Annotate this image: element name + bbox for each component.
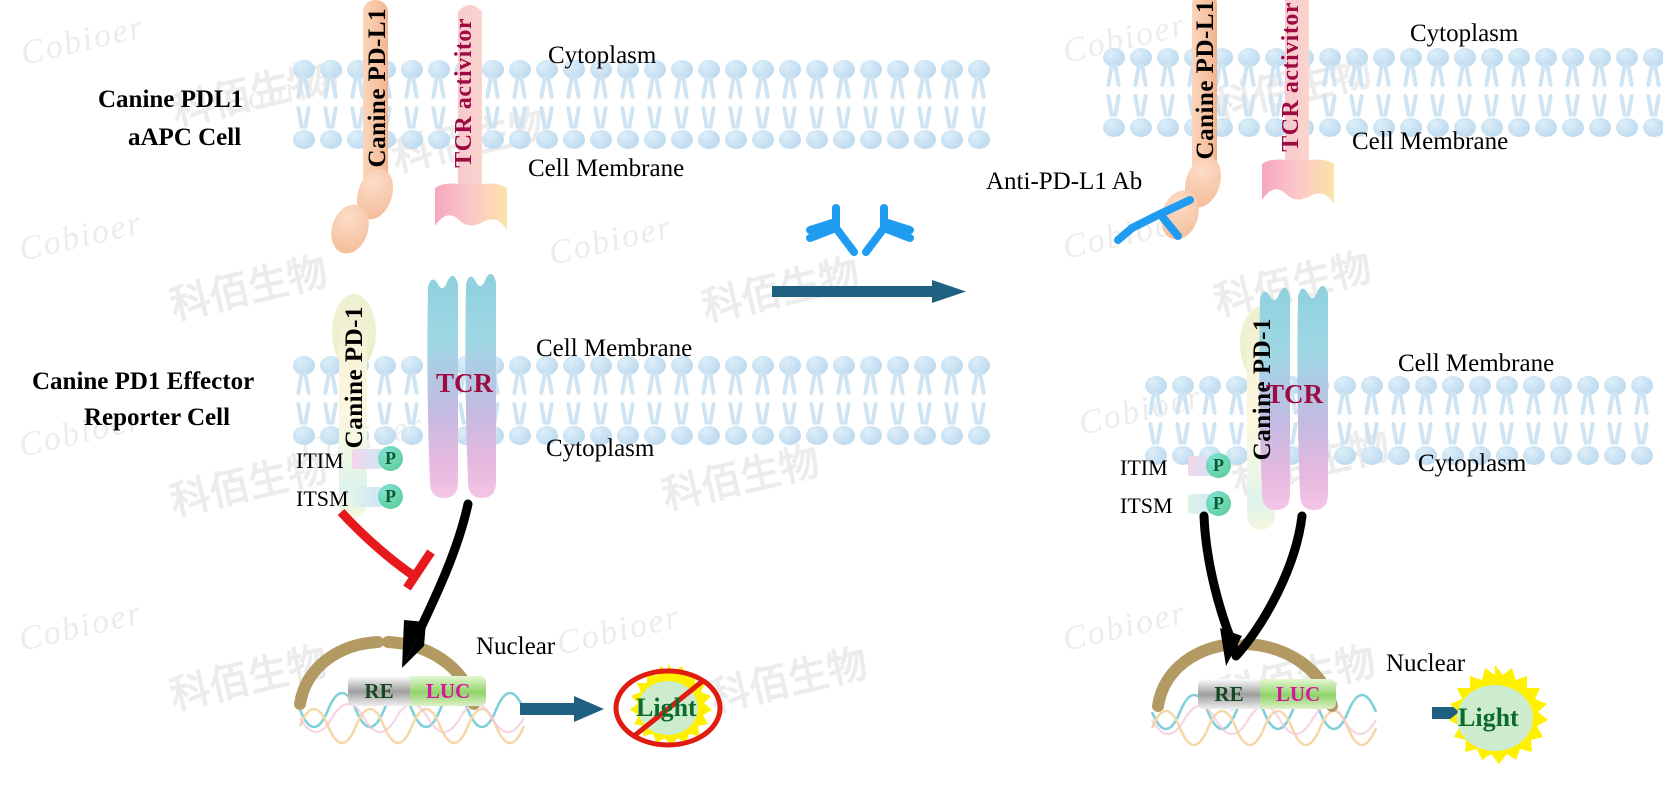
- pd1-label: Canine PD-1: [341, 306, 369, 448]
- effector-membrane-label-right: Cell Membrane: [1398, 350, 1554, 378]
- light-label-active: Light: [1458, 703, 1519, 733]
- apc-cytoplasm-label: Cytoplasm: [548, 42, 656, 70]
- effector-membrane-label: Cell Membrane: [536, 335, 692, 363]
- tcr-label-right: TCR: [1266, 379, 1323, 410]
- pdl1-label-right: Canine PD-L1: [1192, 0, 1220, 159]
- luc-gene: LUC: [410, 676, 486, 706]
- apc-membrane-label: Cell Membrane: [528, 155, 684, 183]
- diagram-canvas: Cobioer 科佰生物 Cobioer 科佰生物 Cobioer 科佰生物 C…: [0, 0, 1663, 812]
- effector-cytoplasm-label-right: Cytoplasm: [1418, 450, 1526, 478]
- effector-cytoplasm-label: Cytoplasm: [546, 435, 654, 463]
- apc-membrane-bilayer-right: [1100, 48, 1663, 140]
- pdl1-label: Canine PD-L1: [364, 8, 392, 167]
- apc-cell-label-line1: Canine PDL1: [98, 86, 243, 114]
- anti-pdl1-ab-label: Anti-PD-L1 Ab: [986, 168, 1142, 196]
- watermark-text: Cobioer: [17, 8, 148, 73]
- watermark-text: Cobioer: [545, 208, 676, 273]
- transition-arrow: [772, 277, 968, 307]
- watermark-text: 科佰生物: [164, 239, 333, 332]
- apc-membrane-label-right: Cell Membrane: [1352, 128, 1508, 156]
- tcr-activator-label-right: TCR activitor: [1278, 2, 1305, 152]
- itsm-label: ITSM: [296, 486, 349, 512]
- watermark-text: Cobioer: [15, 594, 146, 659]
- effector-cell-label-line2: Reporter Cell: [84, 404, 230, 432]
- nuclear-label-right: Nuclear: [1386, 650, 1465, 678]
- re-element-right: RE: [1198, 679, 1260, 709]
- watermark-text: Cobioer: [15, 204, 146, 269]
- antibody-pair-icon: [798, 204, 922, 264]
- tcr-activator-label: TCR activitor: [451, 18, 478, 168]
- apc-cell-label-line2: aAPC Cell: [128, 124, 241, 152]
- nuclear-label: Nuclear: [476, 633, 555, 661]
- apc-membrane-bilayer: [290, 60, 992, 152]
- itim-label-right: ITIM: [1120, 455, 1168, 481]
- reporter-gene-cassette: RE LUC: [348, 676, 486, 706]
- itim-label: ITIM: [296, 448, 344, 474]
- watermark-text: Cobioer: [553, 598, 684, 663]
- phospho-circle-itim-right: P: [1206, 453, 1231, 478]
- tcr-label: TCR: [436, 368, 493, 399]
- tcr-signal-arrow-right: [1180, 510, 1350, 670]
- apc-cytoplasm-label-right: Cytoplasm: [1410, 20, 1518, 48]
- re-element: RE: [348, 676, 410, 706]
- reporter-gene-cassette-right: RE LUC: [1198, 679, 1336, 709]
- inhibition-arrow: [335, 508, 455, 598]
- effector-cell-label-line1: Canine PD1 Effector: [32, 368, 254, 396]
- luminescence-output-arrow: [520, 694, 606, 724]
- phospho-circle-itim: P: [378, 446, 403, 471]
- luc-gene-right: LUC: [1260, 679, 1336, 709]
- itsm-label-right: ITSM: [1120, 493, 1173, 519]
- light-label-blocked: Light: [636, 693, 697, 723]
